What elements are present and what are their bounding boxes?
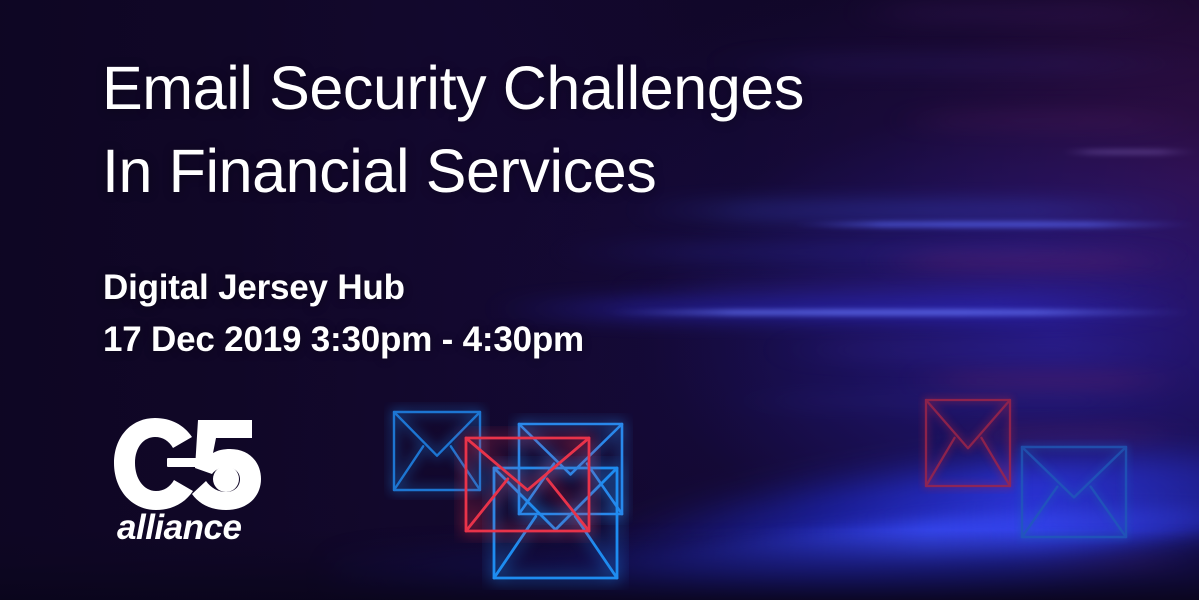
c5-logo-mark-icon [112, 418, 262, 510]
c5-alliance-logo: alliance [112, 418, 262, 548]
logo-wordmark: alliance [117, 508, 241, 548]
event-details: Digital Jersey Hub 17 Dec 2019 3:30pm - … [103, 262, 584, 366]
page-title: Email Security Challenges In Financial S… [102, 47, 1102, 213]
event-banner: Email Security Challenges In Financial S… [0, 0, 1199, 600]
